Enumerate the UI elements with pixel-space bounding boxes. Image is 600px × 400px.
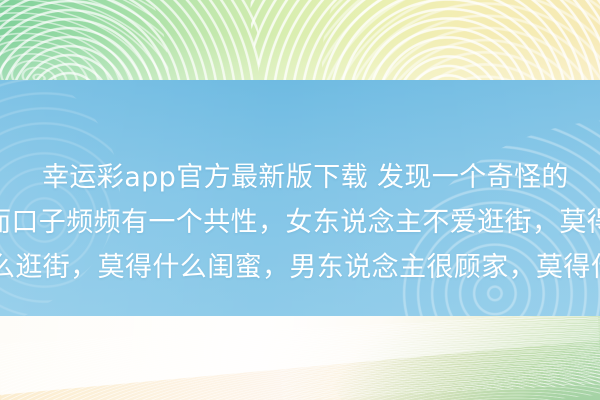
headline-line-2: 而口子频频有一个共性，女东说念主不爱逛街，莫得什 [0,209,600,236]
headline-text-block: 幸运彩app官方最新版下载 发现一个奇怪的 而口子频频有一个共性，女东说念主不爱… [0,150,600,300]
headline-line-1: 幸运彩app官方最新版下载 发现一个奇怪的 [42,164,569,191]
top-decorative-band [0,0,600,82]
banner-image: 幸运彩app官方最新版下载 发现一个奇怪的 而口子频频有一个共性，女东说念主不爱… [0,0,600,400]
headline-line-3: 么逛街，莫得什么闺蜜，男东说念主很顾家，莫得什 [0,254,600,281]
bottom-decorative-band [0,316,600,400]
top-band-tint-overlay [0,0,600,82]
